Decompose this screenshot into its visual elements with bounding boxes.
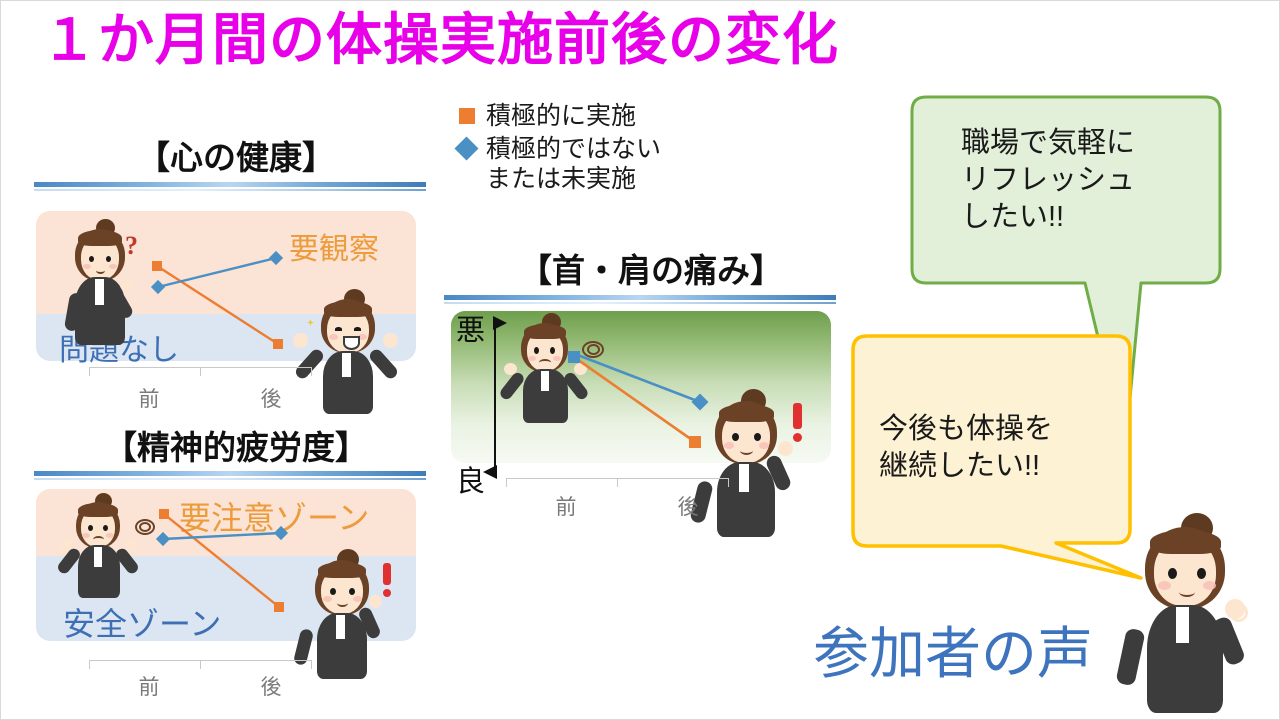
axis-tick — [617, 478, 618, 487]
zone-label-safe: 安全ゾーン — [63, 599, 221, 645]
axis-category-after: 後 — [241, 671, 301, 701]
axis-category-before: 前 — [119, 383, 179, 413]
page-title: １か月間の体操実施前後の変化 — [41, 9, 961, 71]
illustration-shrugging-woman — [504, 313, 609, 423]
chart-divider — [444, 295, 836, 304]
chart-divider — [34, 471, 426, 480]
legend-square-marker-icon — [456, 101, 486, 131]
legend-item-active: 積極的に実施 — [456, 101, 756, 132]
yellow-bubble-text: 今後も体操を 継続したい!! — [879, 411, 1129, 485]
axis-category-before: 前 — [119, 671, 179, 701]
axis-tick — [728, 478, 729, 487]
legend-item-inactive: 積極的ではない または未実施 — [456, 134, 756, 195]
green-bubble-text: 職場で気軽に リフレッシュ したい!! — [961, 125, 1211, 236]
illustration-shrugging-woman — [59, 493, 159, 598]
legend-label: 積極的に実施 — [486, 101, 636, 132]
zone-label-warn: 要観察 — [289, 224, 379, 268]
chart-title-mental-health: 【心の健康】 — [46, 131, 426, 179]
axis-tick — [506, 478, 507, 487]
presentation-slide: １か月間の体操実施前後の変化 積極的に実施 積極的ではない または未実施 【心の… — [0, 0, 1280, 720]
axis-tick — [311, 367, 312, 376]
voices-heading: 参加者の声 — [813, 609, 1093, 690]
chart-title-neck-shoulder-pain: 【首・肩の痛み】 — [456, 244, 846, 292]
axis-category-after: 後 — [241, 383, 301, 413]
chart-divider — [34, 182, 426, 191]
legend-label: 積極的ではない または未実施 — [486, 134, 661, 195]
axis-category-before: 前 — [536, 491, 596, 521]
axis-category-after: 後 — [658, 491, 718, 521]
axis-tick — [200, 367, 201, 376]
chart-legend: 積極的に実施 積極的ではない または未実施 — [456, 101, 756, 197]
illustration-happy-woman — [291, 289, 396, 414]
zone-label-warn: 要注意ゾーン — [179, 493, 369, 539]
legend-diamond-marker-icon — [456, 134, 486, 164]
axis-tick — [311, 660, 312, 669]
axis-tick — [89, 367, 90, 376]
illustration-puzzled-woman: ? — [63, 219, 143, 345]
chart-title-mental-fatigue: 【精神的疲労度】 — [46, 421, 426, 469]
axis-tick — [89, 660, 90, 669]
axis-tick — [200, 660, 201, 669]
axis-label-bad: 悪 — [456, 307, 485, 349]
axis-label-good: 良 — [456, 458, 485, 500]
illustration-presenter-woman — [1121, 513, 1261, 713]
